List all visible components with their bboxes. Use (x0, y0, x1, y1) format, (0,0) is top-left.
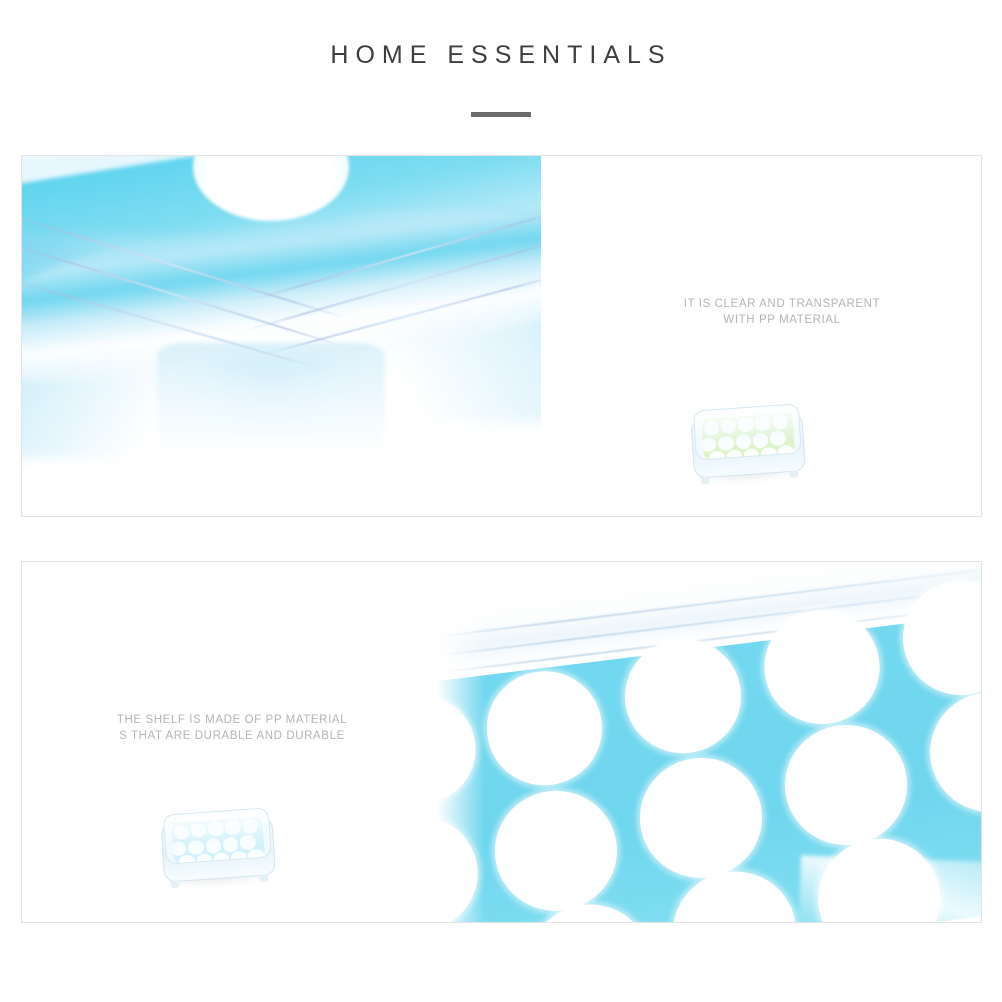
photo-left-fade (436, 562, 485, 922)
feature-panel-clear-material: IT IS CLEAR AND TRANSPARENT WITH PP MATE… (21, 155, 982, 517)
product-photo-egg-shelf (436, 562, 981, 922)
shelf-closeup-scene (436, 562, 981, 922)
egg-opening (480, 665, 609, 792)
tray-clear-lid (693, 403, 802, 460)
product-photo-container-corner (22, 156, 541, 516)
container-corner-foot (157, 343, 385, 509)
panel-1-caption: IT IS CLEAR AND TRANSPARENT WITH PP MATE… (582, 296, 982, 328)
egg-opening (923, 685, 981, 819)
feature-panel-durable-shelf: THE SHELF IS MADE OF PP MATERIAL S THAT … (21, 561, 982, 923)
egg-opening (779, 718, 915, 852)
tray-illustration (149, 796, 285, 897)
tray-foot-right (259, 875, 269, 882)
tray-illustration (679, 392, 815, 493)
tray-foot-left (700, 477, 710, 484)
page-header: HOME ESSENTIALS (0, 0, 1002, 117)
corner-macro-scene (22, 156, 541, 516)
tray-foot-left (170, 881, 180, 888)
tray-clear-lid (163, 807, 272, 864)
egg-opening (489, 784, 625, 918)
panel-2-caption: THE SHELF IS MADE OF PP MATERIAL S THAT … (32, 712, 432, 744)
egg-opening (634, 751, 770, 885)
tray-foot-right (789, 471, 799, 478)
egg-opening (619, 633, 748, 760)
shelf-edge-gloss (799, 855, 981, 922)
shelf-rotation-group (436, 562, 981, 922)
egg-tray-thumbnail-blue (152, 800, 282, 892)
title-divider-rule (471, 112, 531, 117)
page-title: HOME ESSENTIALS (0, 40, 1002, 70)
egg-tray-thumbnail-green (682, 396, 812, 488)
